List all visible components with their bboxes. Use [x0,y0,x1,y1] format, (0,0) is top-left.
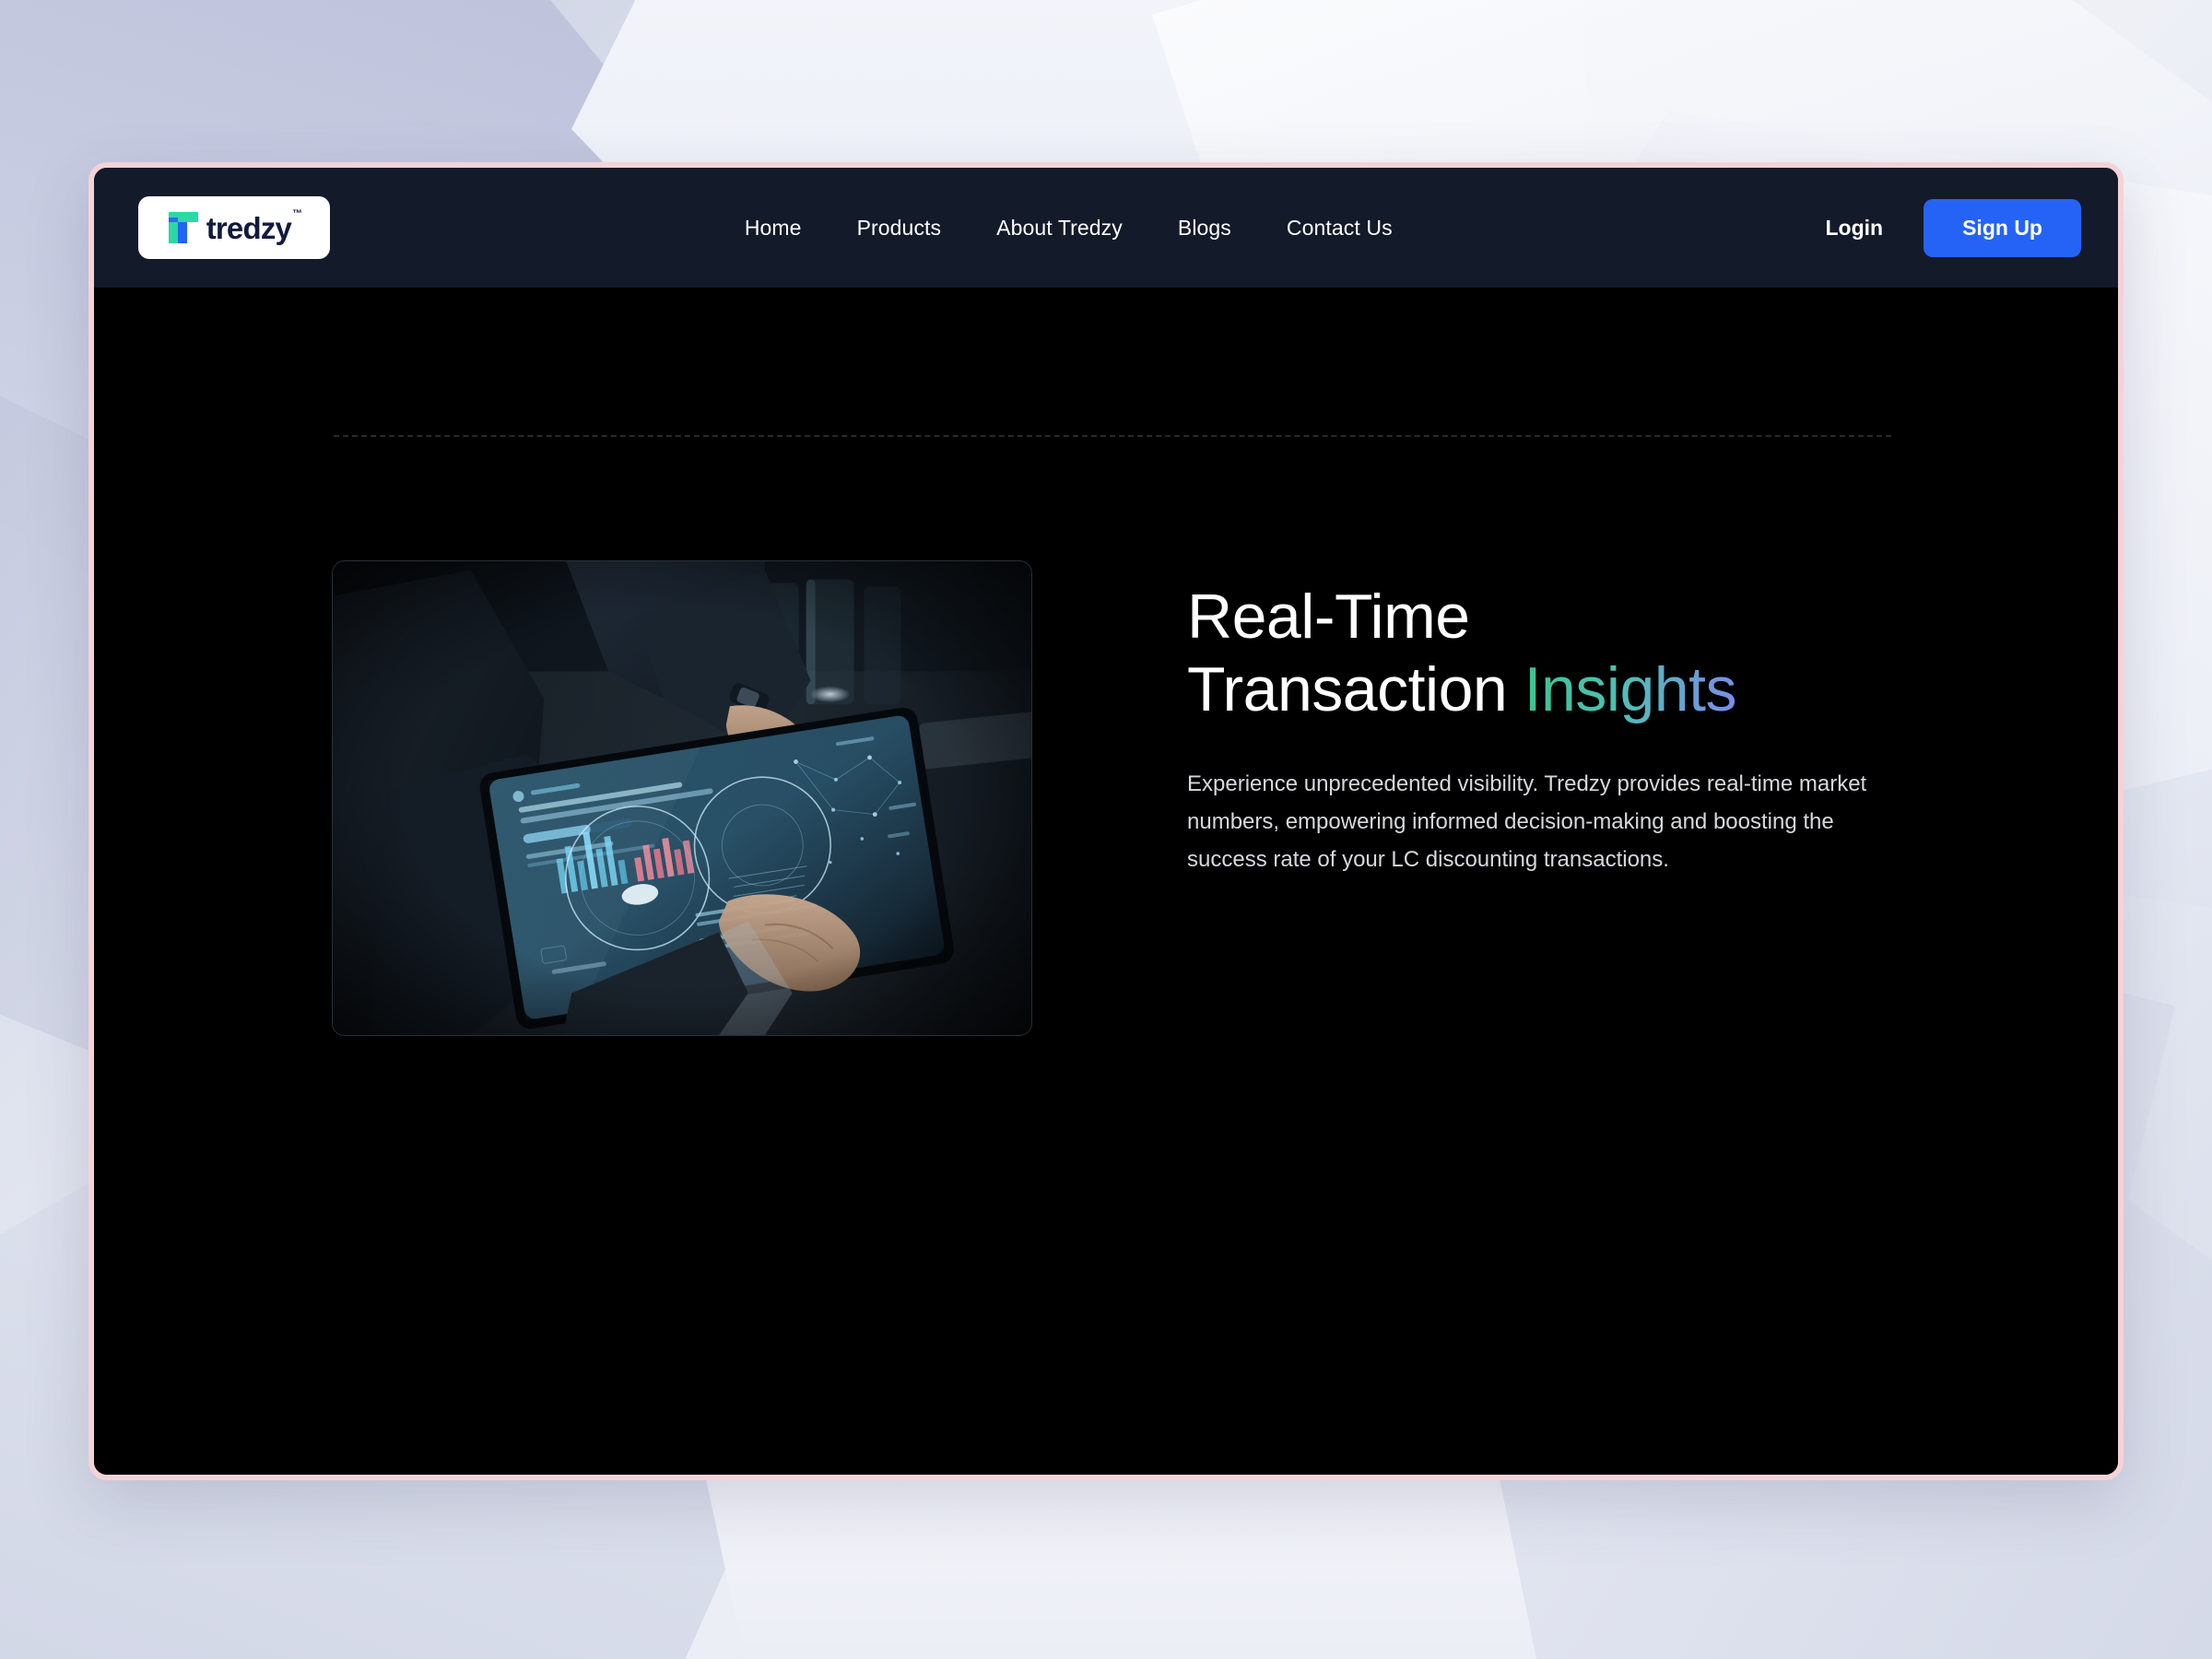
hero-section: Real-Time Transaction Insights Experienc… [94,288,2118,1475]
logo-wordmark: tredzy™ [206,213,301,243]
nav-item-blogs[interactable]: Blogs [1178,216,1231,241]
nav-item-home[interactable]: Home [745,216,802,241]
nav-item-contact-us[interactable]: Contact Us [1287,216,1393,241]
logo[interactable]: tredzy™ [138,196,330,259]
hero-dashed-divider [334,435,1891,437]
hero-heading: Real-Time Transaction Insights [1187,581,1869,726]
navbar: tredzy™ Home Products About Tredzy Blogs… [94,168,2118,288]
primary-navigation: Home Products About Tredzy Blogs Contact… [745,216,1411,241]
navbar-actions: Login Sign Up [1826,199,2081,257]
hero-photo-illustration [333,561,1031,1035]
hero-paragraph: Experience unprecedented visibility. Tre… [1187,765,1869,879]
website-preview-card: tredzy™ Home Products About Tredzy Blogs… [88,162,2124,1480]
nav-item-products[interactable]: Products [857,216,942,241]
hero-text-block: Real-Time Transaction Insights Experienc… [1187,560,1869,879]
hero-image [332,560,1032,1036]
login-link[interactable]: Login [1826,216,1884,241]
tredzy-t-mark-icon [168,211,199,244]
nav-item-about-tredzy[interactable]: About Tredzy [996,216,1123,241]
hero-heading-accent: Insights [1524,654,1736,724]
hero-content: Real-Time Transaction Insights Experienc… [94,560,2118,1036]
hero-heading-line-2: Transaction [1187,654,1524,724]
sign-up-button[interactable]: Sign Up [1924,199,2081,257]
hero-heading-line-1: Real-Time [1187,582,1470,652]
logo-trademark: ™ [292,208,301,219]
